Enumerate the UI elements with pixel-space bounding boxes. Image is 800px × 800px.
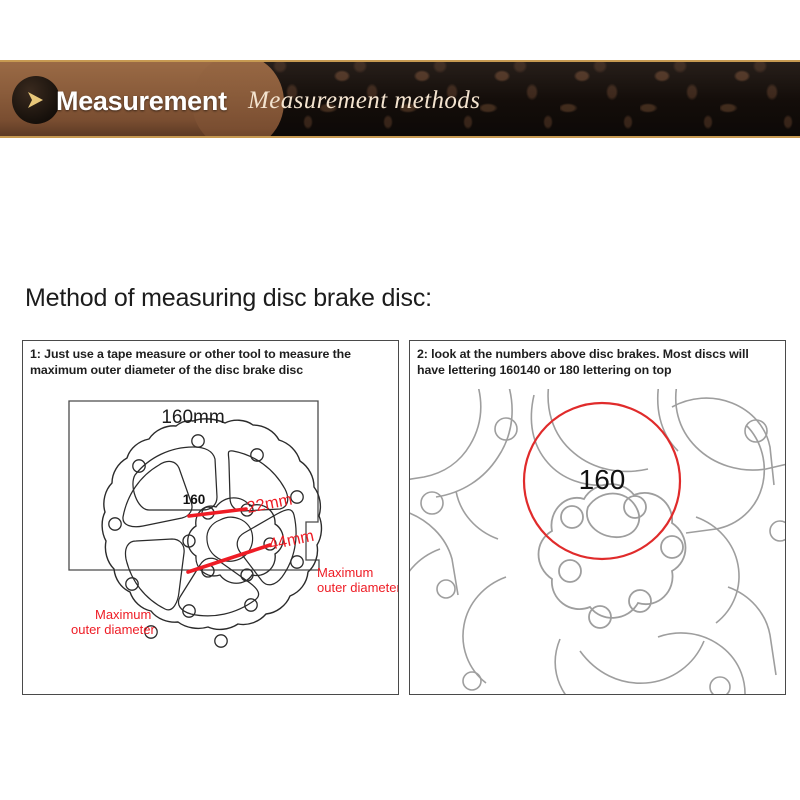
svg-text:outer diameter: outer diameter xyxy=(71,622,155,637)
panel-2-caption: 2: look at the numbers above disc brakes… xyxy=(417,347,779,378)
callout-maximum-outer-diameter-right: Maximum outer diameter xyxy=(317,565,399,595)
page-title: Method of measuring disc brake disc: xyxy=(25,284,432,313)
disc-brake-rotor-diagram-full: 160mm 160 22mm 44mm Maximum outer diamet… xyxy=(23,389,399,695)
disc-brake-rotor-diagram-closeup: 160 xyxy=(410,389,786,695)
svg-text:Maximum: Maximum xyxy=(317,565,373,580)
banner-subtitle: Measurement methods xyxy=(248,62,480,138)
label-rotor-stamp-160: 160 xyxy=(183,492,206,507)
panel-step-2: 2: look at the numbers above disc brakes… xyxy=(409,340,786,695)
panel-1-caption: 1: Just use a tape measure or other tool… xyxy=(30,347,392,378)
banner-title: Measurement xyxy=(56,62,227,138)
label-160mm: 160mm xyxy=(161,407,224,428)
callout-maximum-outer-diameter-left: Maximum outer diameter xyxy=(71,607,155,637)
section-banner: Measurement Measurement methods xyxy=(0,60,800,138)
label-highlighted-160: 160 xyxy=(579,464,626,495)
panel-step-1: 1: Just use a tape measure or other tool… xyxy=(22,340,399,695)
label-22mm: 22mm xyxy=(245,491,293,517)
svg-text:Maximum: Maximum xyxy=(95,607,151,622)
chevron-right-icon xyxy=(12,76,60,124)
label-44mm: 44mm xyxy=(267,527,316,554)
svg-text:outer diameter: outer diameter xyxy=(317,580,399,595)
